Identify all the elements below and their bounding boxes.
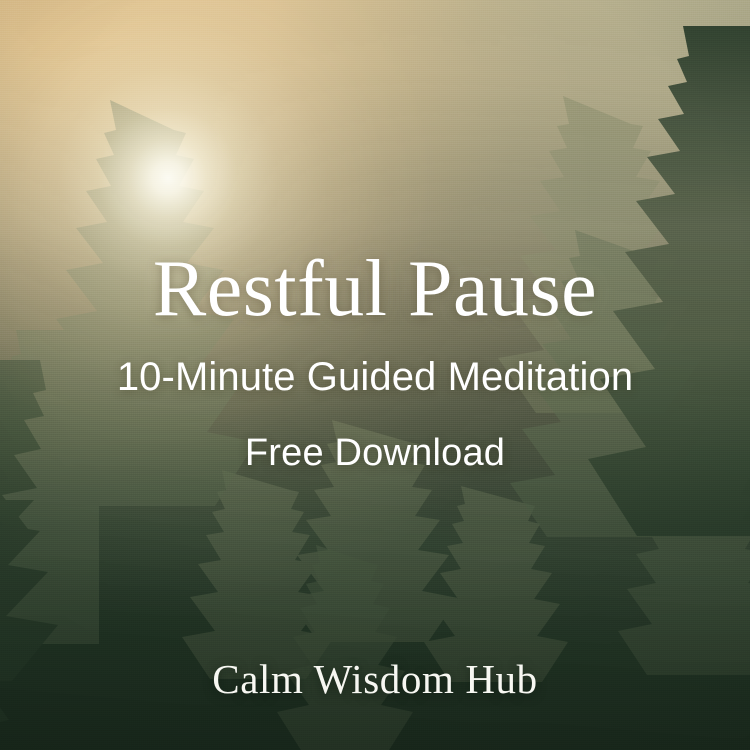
- poster-subtitle: 10-Minute Guided Meditation: [0, 357, 750, 397]
- poster-title: Restful Pause: [0, 249, 750, 329]
- poster-cta-text: Free Download: [0, 434, 750, 472]
- meditation-poster: Restful Pause 10-Minute Guided Meditatio…: [0, 0, 750, 750]
- brand-name: Calm Wisdom Hub: [0, 659, 750, 700]
- poster-text-block: Restful Pause 10-Minute Guided Meditatio…: [0, 0, 750, 750]
